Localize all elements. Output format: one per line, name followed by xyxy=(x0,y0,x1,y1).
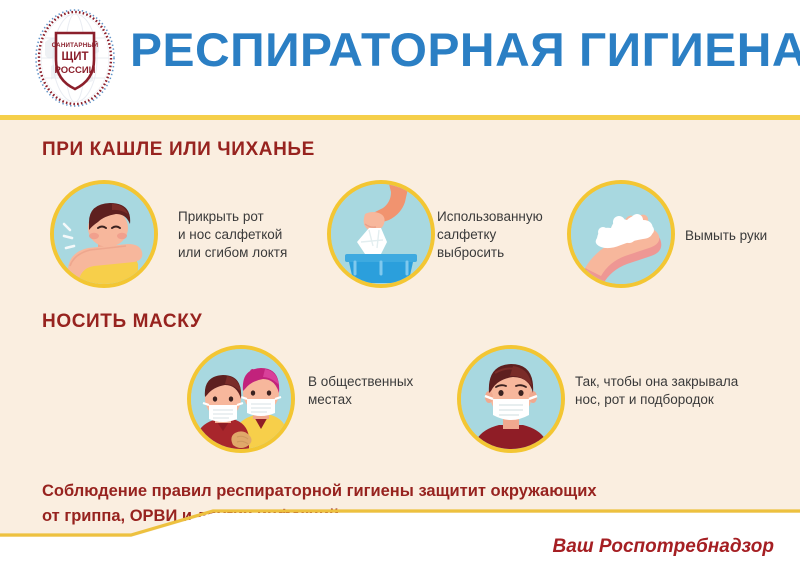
caption-public-places: В общественных местах xyxy=(308,373,458,409)
footer-brand: Ваш Роспотребнадзор xyxy=(552,536,774,558)
emblem-line-1: САНИТАРНЫЙ xyxy=(52,41,99,49)
poster-root: САНИТАРНЫЙ ЩИТ РОССИИ РЕСПИРАТОРНАЯ ГИГИ… xyxy=(0,0,800,566)
caption-mask-coverage: Так, чтобы она закрывала нос, рот и подб… xyxy=(575,373,775,409)
two-boys-wearing-masks-icon xyxy=(187,345,295,453)
emblem-line-3: РОССИИ xyxy=(55,65,96,76)
section-heading-cough: ПРИ КАШЛЕ ИЛИ ЧИХАНЬЕ xyxy=(42,139,315,161)
page-title: РЕСПИРАТОРНАЯ ГИГИЕНА xyxy=(130,26,800,73)
section-heading-mask: НОСИТЬ МАСКУ xyxy=(42,311,202,333)
hand-dropping-tissue-into-bin-icon xyxy=(327,180,435,288)
boy-coughing-into-elbow-icon xyxy=(50,180,158,288)
emblem-line-2: ЩИТ xyxy=(61,51,88,63)
header: САНИТАРНЫЙ ЩИТ РОССИИ РЕСПИРАТОРНАЯ ГИГИ… xyxy=(0,0,800,118)
caption-cover-mouth: Прикрыть рот и нос салфеткой или сгибом … xyxy=(178,208,328,262)
caption-wash-hands: Вымыть руки xyxy=(685,227,800,245)
sanitary-shield-of-russia-emblem: САНИТАРНЫЙ ЩИТ РОССИИ xyxy=(25,8,125,108)
boy-wearing-mask-correctly-icon xyxy=(457,345,565,453)
washing-hands-with-soap-icon xyxy=(567,180,675,288)
